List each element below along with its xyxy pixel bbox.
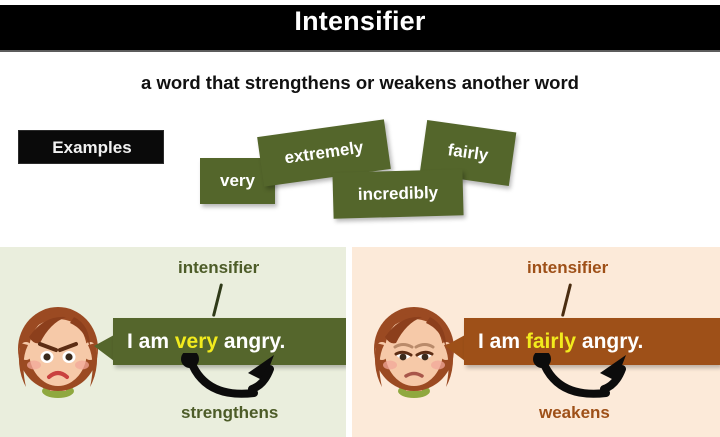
infographic-canvas: Intensifier a word that strengthens or w…: [0, 0, 720, 437]
intensifier-callout-label: intensifier: [527, 258, 608, 278]
weakens-arrow-icon: [530, 353, 660, 405]
definition-subtitle: a word that strengthens or weakens anoth…: [0, 72, 720, 94]
sentence-after: angry.: [218, 330, 285, 353]
weakens-panel: intensifier I am fairly angry. weakens: [352, 247, 720, 437]
example-card-label: extremely: [283, 138, 364, 169]
sentence-after: angry.: [576, 330, 643, 353]
example-card-label: incredibly: [358, 183, 439, 205]
sentence-before: I am: [478, 330, 526, 353]
example-card-label: fairly: [446, 140, 489, 165]
angry-girl-avatar: [14, 303, 102, 403]
speech-bubble-tail: [94, 335, 114, 361]
intensifier-word: fairly: [526, 330, 576, 353]
examples-badge-label: Examples: [19, 138, 165, 158]
speech-bubble-tail: [445, 335, 465, 361]
effect-callout-label: weakens: [539, 403, 610, 423]
example-card-label: very: [220, 171, 255, 191]
strengthens-arrow-icon: [178, 353, 308, 405]
page-title: Intensifier: [0, 6, 720, 37]
effect-callout-label: strengthens: [181, 403, 278, 423]
strengthens-panel: intensifier I am very angry. strengthens: [0, 247, 346, 437]
examples-badge: Examples: [18, 130, 164, 164]
speech-bubble-text: I am very angry.: [127, 330, 285, 354]
intensifier-word: very: [175, 330, 218, 353]
sentence-before: I am: [127, 330, 175, 353]
speech-bubble-text: I am fairly angry.: [478, 330, 643, 354]
intensifier-pointer-line: [561, 283, 572, 317]
example-card-incredibly: incredibly: [332, 169, 463, 218]
intensifier-callout-label: intensifier: [178, 258, 259, 278]
intensifier-pointer-line: [212, 283, 223, 317]
